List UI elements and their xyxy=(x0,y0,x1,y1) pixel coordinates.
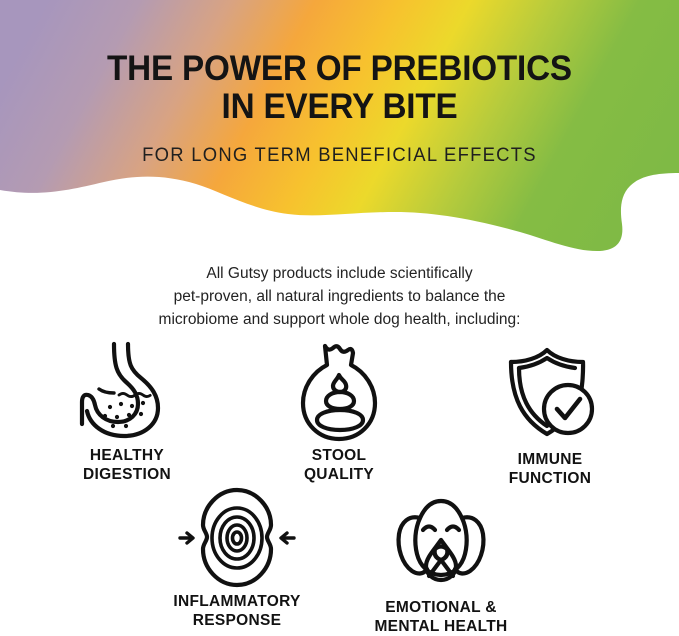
benefit-icon-wrap xyxy=(32,338,222,446)
benefit-healthy-digestion: HEALTHY DIGESTION xyxy=(32,338,222,484)
benefit-label: EMOTIONAL & MENTAL HEALTH xyxy=(346,598,536,636)
benefit-icon-wrap xyxy=(244,338,434,446)
inflammation-icon xyxy=(176,485,298,591)
benefits-grid: HEALTHY DIGESTION STOOL QUALITY xyxy=(0,338,679,634)
poop-bag-icon xyxy=(293,339,385,445)
benefit-inflammatory-response: INFLAMMATORY RESPONSE xyxy=(142,484,332,630)
benefit-stool-quality: STOOL QUALITY xyxy=(244,338,434,484)
benefit-label: HEALTHY DIGESTION xyxy=(32,446,222,484)
benefit-label: INFLAMMATORY RESPONSE xyxy=(142,592,332,630)
intro-line-2: pet-proven, all natural ingredients to b… xyxy=(0,285,679,308)
benefit-immune-function: IMMUNE FUNCTION xyxy=(455,342,645,488)
benefit-label: STOOL QUALITY xyxy=(244,446,434,484)
benefit-emotional-mental-health: EMOTIONAL & MENTAL HEALTH xyxy=(346,490,536,636)
intro-line-3: microbiome and support whole dog health,… xyxy=(0,308,679,331)
benefit-icon-wrap xyxy=(346,490,536,598)
stomach-icon xyxy=(76,340,178,444)
hero-banner: THE POWER OF PREBIOTICSIN EVERY BITE FOR… xyxy=(0,0,679,262)
intro-line-1: All Gutsy products include scientificall… xyxy=(0,262,679,285)
intro-paragraph: All Gutsy products include scientificall… xyxy=(0,262,679,331)
benefit-icon-wrap xyxy=(142,484,332,592)
hero-gradient-blob xyxy=(0,0,679,262)
dog-face-icon xyxy=(391,496,491,592)
benefit-icon-wrap xyxy=(455,342,645,450)
shield-check-icon xyxy=(501,346,599,446)
benefit-label: IMMUNE FUNCTION xyxy=(455,450,645,488)
